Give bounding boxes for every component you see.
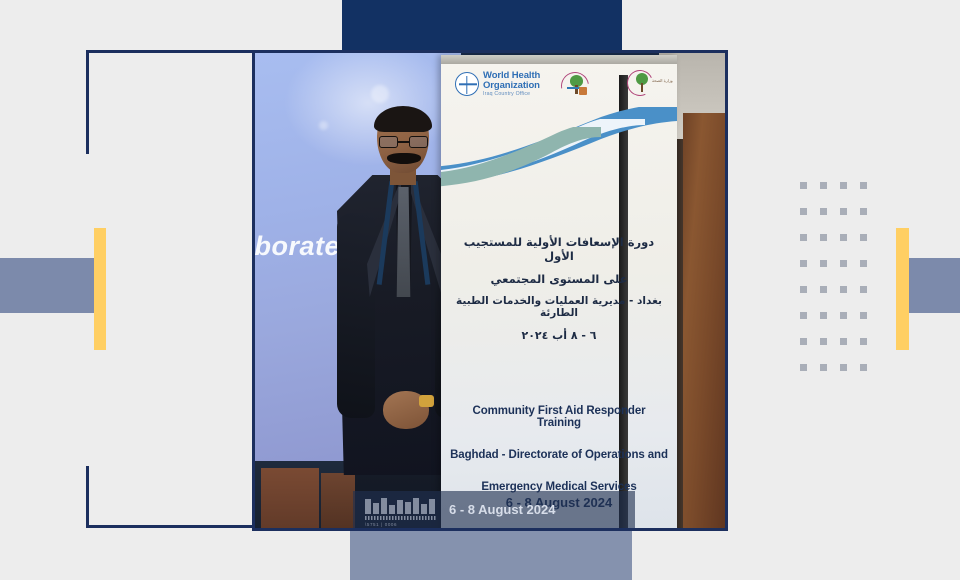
dot bbox=[800, 260, 807, 267]
dot bbox=[860, 286, 867, 293]
yellow-accent-bar-right bbox=[896, 228, 909, 350]
dot bbox=[840, 208, 847, 215]
dot bbox=[860, 260, 867, 267]
banner-top-rail bbox=[441, 55, 677, 64]
watermark-subtext: \5751 | 0006 bbox=[365, 522, 441, 527]
dot-grid-decoration bbox=[800, 182, 880, 390]
dot bbox=[820, 234, 827, 241]
banner-wave-teal bbox=[441, 127, 609, 187]
eyeglasses-icon bbox=[379, 136, 428, 148]
agency-watermark-logo: \5751 | 0006 bbox=[365, 497, 441, 528]
navy-accent-block-top bbox=[342, 0, 622, 50]
banner-logo-row: World Health Organization Iraq Country O… bbox=[455, 69, 661, 111]
banner-arabic-line1: دورة الإسعافات الأولية للمستجيب الأول bbox=[451, 235, 667, 263]
dot bbox=[860, 338, 867, 345]
banner-english-line1: Community First Aid Responder Training bbox=[449, 405, 669, 429]
overlay-date-label: 6 - 8 August 2024 bbox=[449, 502, 555, 517]
dot bbox=[800, 286, 807, 293]
who-logo: World Health Organization Iraq Country O… bbox=[455, 71, 540, 98]
conference-photo: aborate bbox=[255, 53, 725, 528]
wristwatch bbox=[419, 395, 434, 407]
who-logo-line3: Iraq Country Office bbox=[483, 92, 540, 97]
dot bbox=[820, 338, 827, 345]
slate-band-left bbox=[0, 258, 105, 313]
dot bbox=[860, 364, 867, 371]
logo-block bbox=[579, 87, 587, 95]
dot bbox=[840, 312, 847, 319]
photo-caption-overlay: \5751 | 0006 6 - 8 August 2024 bbox=[353, 491, 635, 528]
dot bbox=[840, 364, 847, 371]
directorate-logo: وزارة الصحة bbox=[627, 70, 675, 100]
dot bbox=[820, 286, 827, 293]
yellow-accent-bar-left bbox=[94, 228, 106, 350]
tree-trunk-icon bbox=[641, 83, 643, 92]
dot bbox=[800, 182, 807, 189]
dot bbox=[820, 260, 827, 267]
dot bbox=[860, 182, 867, 189]
directorate-logo-text: وزارة الصحة bbox=[652, 79, 673, 84]
ministry-of-health-iraq-logo bbox=[559, 71, 601, 101]
dot bbox=[840, 286, 847, 293]
rollup-banner: World Health Organization Iraq Country O… bbox=[441, 55, 677, 528]
photo-frame: aborate bbox=[252, 50, 728, 531]
mustache bbox=[387, 153, 421, 164]
dot bbox=[840, 234, 847, 241]
banner-english-line2: Baghdad - Directorate of Operations and bbox=[449, 449, 669, 461]
poster-canvas: aborate bbox=[0, 0, 960, 580]
dot bbox=[840, 260, 847, 267]
banner-arabic-line2: على المستوى المجتمعي bbox=[451, 272, 667, 286]
dot bbox=[820, 182, 827, 189]
dot bbox=[860, 208, 867, 215]
dot bbox=[800, 208, 807, 215]
watermark-rule bbox=[365, 516, 437, 520]
dot bbox=[840, 182, 847, 189]
banner-arabic-text: دورة الإسعافات الأولية للمستجيب الأول عل… bbox=[451, 235, 667, 342]
dot bbox=[840, 338, 847, 345]
banner-english-text: Community First Aid Responder Training B… bbox=[449, 405, 669, 493]
dot bbox=[820, 208, 827, 215]
hair bbox=[374, 106, 432, 132]
dot bbox=[820, 312, 827, 319]
slate-band-bottom bbox=[350, 530, 632, 580]
chair bbox=[261, 468, 319, 528]
suit-sleeve-left bbox=[337, 213, 375, 418]
banner-arabic-line3: بغداد - مديرية العمليات والخدمات الطبية … bbox=[451, 295, 667, 319]
wood-door bbox=[683, 113, 725, 528]
dot bbox=[860, 234, 867, 241]
who-logo-line2: Organization bbox=[483, 81, 540, 91]
dot bbox=[860, 312, 867, 319]
dot bbox=[800, 312, 807, 319]
watermark-bars bbox=[365, 497, 441, 514]
light-bokeh bbox=[371, 85, 389, 103]
dot bbox=[800, 338, 807, 345]
dot bbox=[800, 364, 807, 371]
dot bbox=[820, 364, 827, 371]
who-emblem-icon bbox=[455, 72, 479, 96]
banner-arabic-date: ٦ - ٨ أب ٢٠٢٤ bbox=[451, 329, 667, 342]
dot bbox=[800, 234, 807, 241]
